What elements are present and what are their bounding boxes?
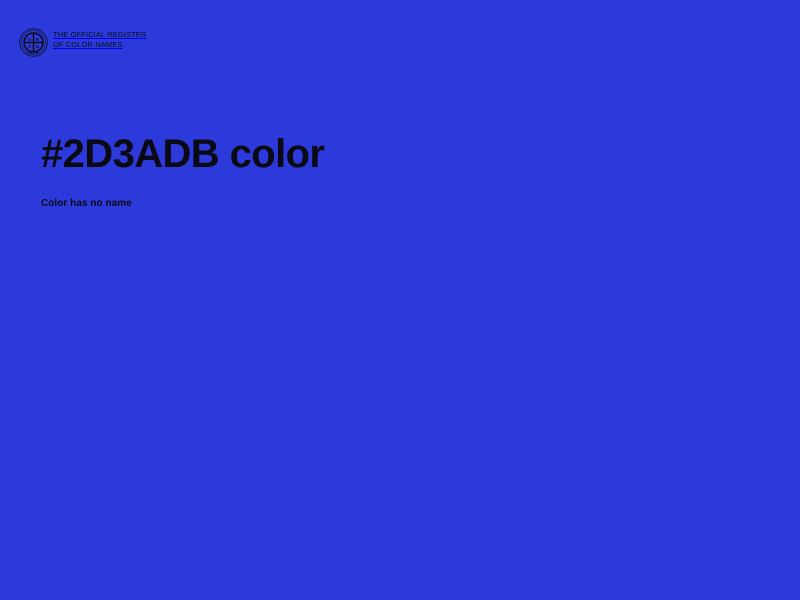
official-register-seal-icon: O R C N — [19, 28, 48, 57]
logo-wordmark: THE OFFICIAL REGISTER OF COLOR NAMES — [53, 28, 146, 49]
svg-text:R: R — [36, 37, 40, 42]
color-name-status: Color has no name — [41, 197, 132, 211]
logo-wordmark-line-2: OF COLOR NAMES — [53, 40, 146, 50]
svg-text:O: O — [28, 37, 32, 42]
logo-wordmark-line-1: THE OFFICIAL REGISTER — [53, 30, 146, 40]
color-page: O R C N THE OFFICIAL REGISTER OF COLOR N… — [0, 0, 800, 600]
svg-text:N: N — [36, 44, 39, 49]
page-title: #2D3ADB color — [41, 131, 324, 177]
svg-text:C: C — [28, 44, 32, 49]
site-logo[interactable]: O R C N THE OFFICIAL REGISTER OF COLOR N… — [19, 28, 146, 57]
